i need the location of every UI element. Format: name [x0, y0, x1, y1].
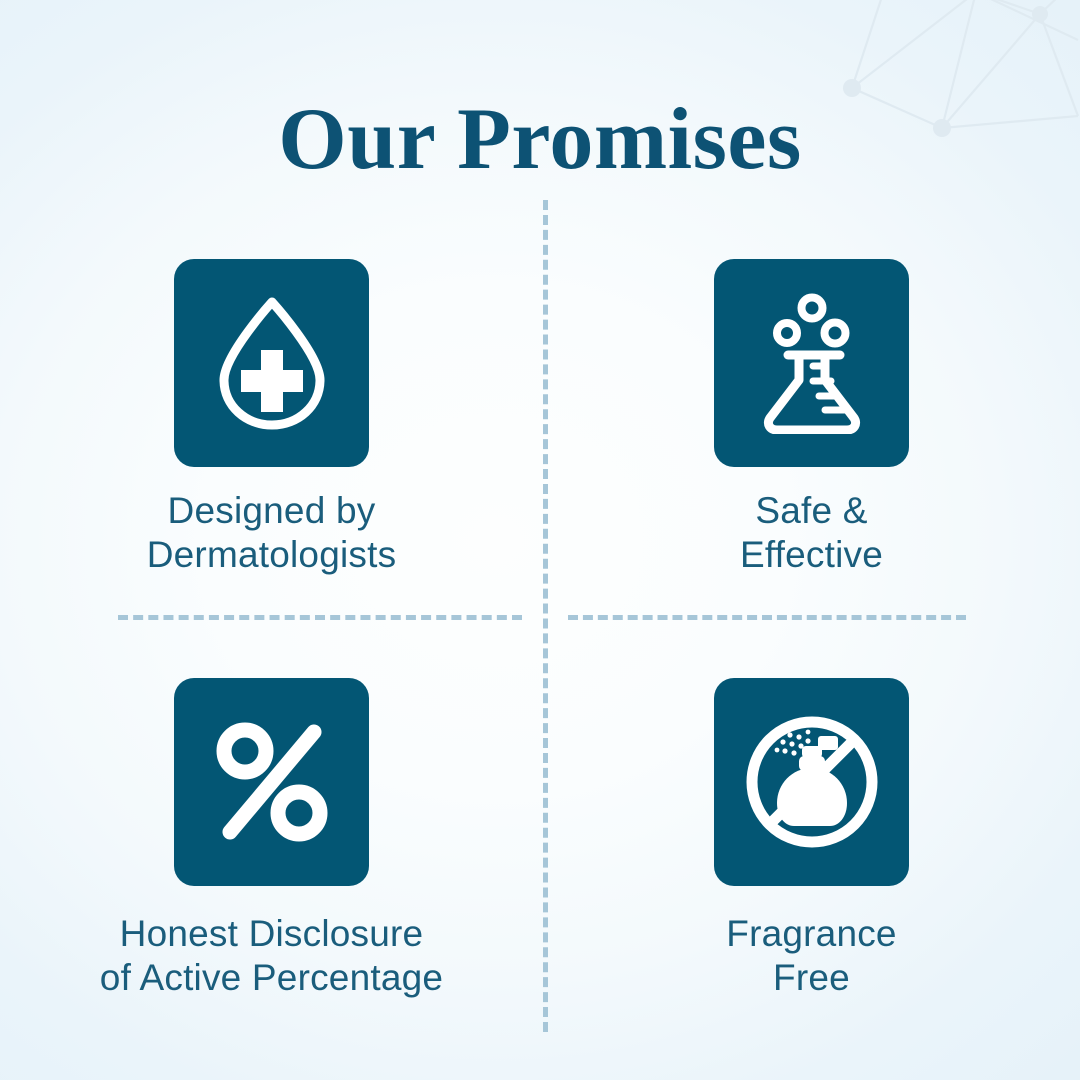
promise-label: Honest Disclosure of Active Percentage — [100, 912, 443, 999]
promise-icon-tile — [174, 678, 369, 886]
flask-bubbles-icon — [747, 292, 877, 434]
promise-item-honest-disclosure: Honest Disclosure of Active Percentage — [0, 615, 543, 1080]
promise-item-safe-and-effective: Safe & Effective — [543, 0, 1080, 615]
no-perfume-icon — [744, 714, 880, 850]
promise-icon-tile — [714, 259, 909, 467]
promise-grid: Designed by Dermatologists — [0, 0, 1080, 1080]
promise-icon-tile — [174, 259, 369, 467]
promise-label: Safe & Effective — [740, 489, 883, 576]
promise-item-designed-by-dermatologists: Designed by Dermatologists — [0, 0, 543, 615]
promise-label: Designed by Dermatologists — [147, 489, 397, 576]
percent-icon — [216, 722, 328, 842]
promises-infographic: Our Promises Designed by Dermatologists — [0, 0, 1080, 1080]
promise-icon-tile — [714, 678, 909, 886]
droplet-plus-icon — [208, 293, 336, 433]
promise-label: Fragrance Free — [726, 912, 896, 999]
promise-item-fragrance-free: Fragrance Free — [543, 615, 1080, 1080]
